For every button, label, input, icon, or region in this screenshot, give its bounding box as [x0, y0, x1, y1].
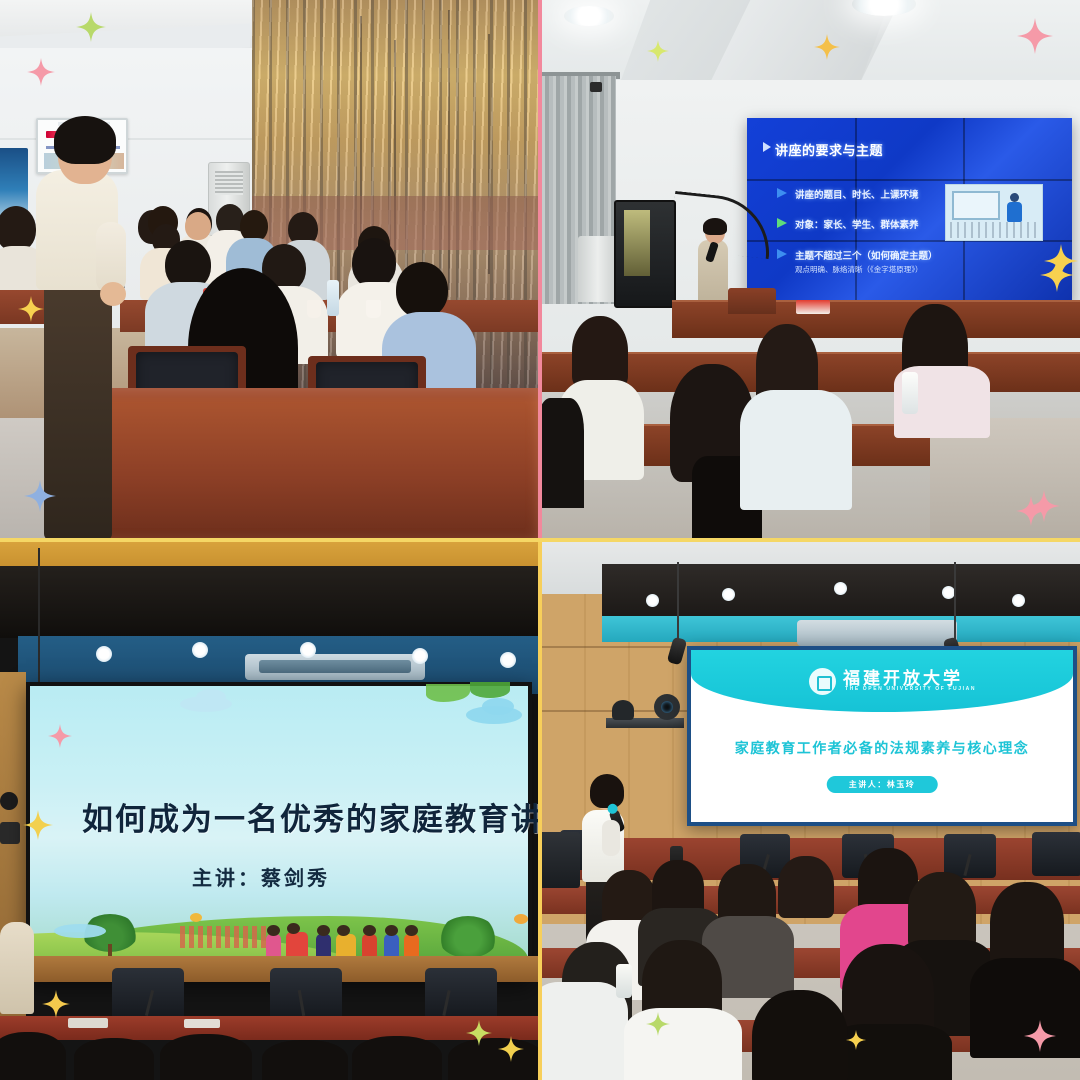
audience-member — [542, 982, 628, 1080]
cloud-graphic — [54, 924, 106, 938]
audience-member — [752, 990, 848, 1080]
teacher-at-whiteboard-illustration — [945, 184, 1043, 241]
audience-member — [908, 872, 976, 950]
equipment-rack — [614, 200, 676, 308]
paper-cup — [366, 300, 381, 318]
ceiling-light — [564, 6, 614, 26]
audience-member — [262, 1040, 348, 1080]
participant-head — [396, 262, 448, 318]
upper-wall — [0, 542, 538, 568]
cloud-graphic — [196, 689, 226, 705]
triangle-bullet-icon — [777, 218, 787, 228]
ceiling-soffit — [0, 566, 538, 638]
university-name-en: THE OPEN UNIVERSITY OF FUJIAN — [845, 686, 976, 692]
projection-screen: 福建开放大学 THE OPEN UNIVERSITY OF FUJIAN 家庭教… — [687, 646, 1077, 826]
audience-member — [572, 316, 628, 388]
slide-subnote: 观点明确、脉络清晰（《金字塔原理》） — [795, 264, 923, 275]
slide-title: 讲座的要求与主题 — [775, 140, 883, 159]
speaker-hair — [590, 774, 624, 808]
pane-lecture-hall-teal-slide: 福建开放大学 THE OPEN UNIVERSITY OF FUJIAN 家庭教… — [542, 542, 1080, 1080]
photo-collage: Presenter with microphone speaking to se… — [0, 0, 1080, 1080]
audience-member — [74, 1038, 154, 1080]
downlight-icon — [500, 652, 516, 668]
downlight-icon — [192, 642, 208, 658]
leaf-graphic — [470, 682, 510, 698]
wall-speaker — [590, 82, 602, 92]
slide-bullet: 对象：家长、学生、群体素养 — [795, 217, 919, 231]
tree-graphic — [438, 916, 498, 958]
slide-title: 如何成为一名优秀的家庭教育讲师 — [82, 794, 538, 839]
audience-member — [0, 1032, 66, 1080]
butterfly-graphic — [514, 914, 528, 924]
name-plate — [68, 1018, 108, 1028]
camera-icon — [0, 792, 18, 810]
chair-back — [425, 968, 497, 1022]
slide-title: 家庭教育工作者必备的法规素养与核心理念 — [735, 738, 1030, 758]
speaker-hair — [54, 116, 116, 164]
camera-icon — [0, 822, 20, 844]
sparkle-icon — [42, 990, 70, 1018]
triangle-bullet-icon — [777, 249, 787, 259]
downlight-icon — [412, 648, 428, 664]
water-bottle — [616, 964, 632, 998]
pane-classroom-discussion: Presenter with microphone speaking to se… — [0, 0, 538, 538]
audience-member — [740, 390, 852, 510]
audience-member — [352, 1036, 442, 1080]
chair-back — [1032, 832, 1080, 876]
participant-head — [185, 212, 211, 240]
chevron-right-icon — [763, 142, 771, 152]
audience-member — [160, 1034, 252, 1080]
speaker-hair — [703, 218, 727, 235]
wall-seam — [542, 646, 684, 648]
camera-icon — [612, 700, 634, 720]
ceiling-ac-vent — [245, 654, 425, 680]
speaker-arm — [602, 820, 620, 856]
paper-cup — [307, 300, 321, 318]
water-bottle — [327, 280, 339, 316]
slide-bullet: 讲座的题目、时长、上课环境 — [795, 187, 919, 201]
water-bottle — [902, 372, 918, 414]
participant-head — [352, 238, 396, 288]
microphone-cable — [954, 562, 956, 640]
audience-member — [778, 856, 834, 918]
downlight-icon — [834, 582, 847, 595]
camera-icon — [654, 694, 680, 720]
downlight-icon — [1012, 594, 1025, 607]
chair-back — [728, 288, 776, 314]
slide-presenter: 主讲：蔡剑秀 — [192, 862, 330, 891]
downlight-icon — [722, 588, 735, 601]
podium — [542, 832, 580, 888]
audience-member — [542, 398, 584, 508]
tissue-box — [796, 300, 830, 314]
audience-member — [990, 882, 1064, 970]
audience-member — [970, 958, 1080, 1058]
speaker-hand — [100, 282, 126, 306]
pane-led-wall-lecture: 讲座的要求与主题 讲座的题目、时长、上课环境 对象：家长、学生、群体素养 主题不… — [542, 0, 1080, 538]
pane-title-slide-projection: 如何成为一名优秀的家庭教育讲师 主讲：蔡剑秀 — [0, 542, 538, 1080]
microphone-cable — [677, 562, 679, 640]
downlight-icon — [646, 594, 659, 607]
slide-presenter-pill: 主讲人：林玉玲 — [827, 776, 938, 793]
microphone-cable — [38, 548, 40, 698]
ceiling-ac-vent — [797, 620, 957, 646]
butterfly-graphic — [190, 913, 202, 922]
cloud-graphic — [482, 698, 514, 715]
chair-back — [270, 968, 342, 1022]
foreground-table — [90, 388, 538, 538]
slide-bullet: 主题不超过三个（如何确定主题） — [795, 248, 938, 262]
standing-person — [0, 922, 34, 1014]
university-logo-icon — [809, 668, 836, 695]
audience-member — [624, 1008, 742, 1080]
leaf-graphic — [426, 684, 470, 702]
downlight-icon — [300, 642, 316, 658]
projection-screen: 如何成为一名优秀的家庭教育讲师 主讲：蔡剑秀 — [26, 682, 532, 982]
audience-member — [448, 1038, 538, 1080]
city-skyline-graphic — [180, 926, 266, 948]
led-video-wall: 讲座的要求与主题 讲座的题目、时长、上课环境 对象：家长、学生、群体素养 主题不… — [747, 118, 1072, 303]
speaker-skirt — [44, 282, 112, 538]
name-plate — [184, 1019, 220, 1028]
downlight-icon — [96, 646, 112, 662]
triangle-bullet-icon — [777, 188, 787, 198]
